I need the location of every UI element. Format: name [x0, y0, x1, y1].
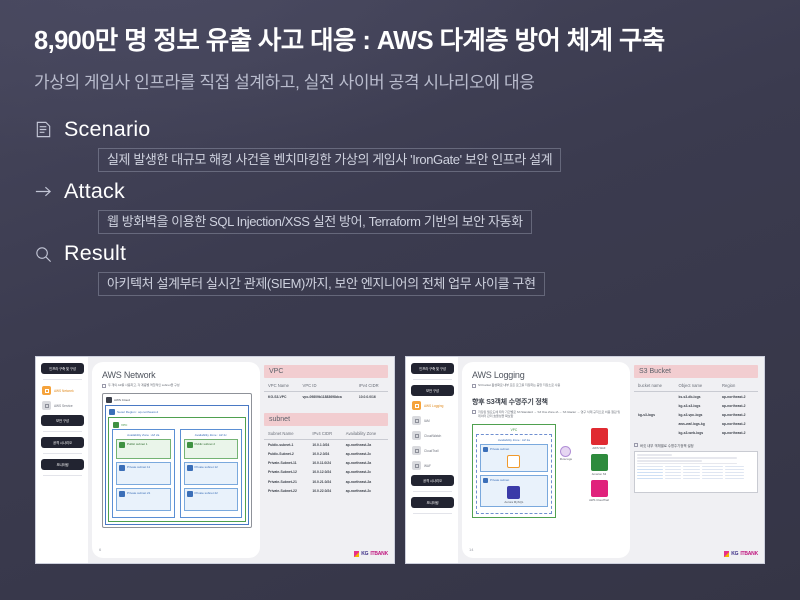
- logging-icon: [412, 401, 421, 410]
- cell: [634, 429, 674, 438]
- screenshot-caption: 버킷 내부 객체별로 수명주기정책 설정: [634, 443, 758, 448]
- cell: 10.0.1.0/24: [308, 440, 341, 450]
- kg-itbank-logo: KG ITBANK: [354, 551, 388, 557]
- slide1-canvas: AWS Network 두 개의 AZ를 사용하고, 각 계층별 역할적인 su…: [92, 362, 260, 558]
- table-row: Private-Subnet-11 10.0.11.0/24 ap-northe…: [264, 459, 388, 468]
- resource-icon: [507, 455, 520, 468]
- table-header-row: VPC Name VPC ID IPv4 CIDR: [264, 380, 388, 392]
- az-row: Availability Zone : AZ 2a Public subnet …: [112, 429, 242, 518]
- subnet-table-caption: subnet: [264, 413, 388, 426]
- subnet-label: Public subnet 2: [195, 442, 216, 446]
- slide2-nav-button-monitoring[interactable]: 모니터링: [411, 497, 454, 508]
- cell: ap-northeast-2: [718, 429, 758, 438]
- waf-icon: [412, 461, 421, 470]
- divider: [413, 491, 452, 492]
- slide1-note: 두 개의 AZ를 사용하고, 각 계층별 역할적인 subnet을 구성: [102, 383, 252, 388]
- private-subnet-1: Private subnet: [480, 444, 548, 472]
- flow-logs-icon: [560, 446, 571, 457]
- divider: [43, 453, 82, 454]
- az-title: Availability Zone : AZ 2c: [184, 433, 239, 437]
- bullet-icon: [102, 384, 106, 388]
- bullet-icon: [472, 384, 476, 388]
- screenshot-line: [637, 460, 702, 462]
- cell: Private-Subnet-21: [264, 477, 308, 486]
- column-header: bucket name: [634, 380, 674, 392]
- slide2-heading2: 향후 S3객체 수명주기 정책: [472, 397, 622, 407]
- slide1-data-panel: VPC VPC Name VPC ID IPv4 CIDR KG-S3-VPC …: [262, 357, 394, 563]
- service-icon: [42, 401, 51, 410]
- cloud-icon: [106, 397, 112, 403]
- vpc-text: VPC: [121, 423, 127, 427]
- screenshot-row: [637, 475, 755, 477]
- subnet-label: Private subnet: [490, 478, 509, 482]
- section-attack: Attack 웹 방화벽을 이용한 SQL Injection/XSS 실전 방…: [34, 181, 800, 234]
- slide2-nav-item-label: CloudWatch: [424, 434, 441, 438]
- az-label: Availability Zone : AZ 2a: [480, 438, 548, 442]
- section-scenario-header: Scenario: [34, 119, 800, 141]
- slide1-nav-item-aws-service[interactable]: AWS Service: [41, 400, 84, 411]
- s3-bucket-table-caption: S3 Bucket: [634, 365, 758, 378]
- amazon-s3-icon: [591, 454, 608, 471]
- table-row: Private-Subnet-21 10.0.21.0/24 ap-northe…: [264, 477, 388, 486]
- node-label: AWS WAF: [591, 446, 608, 450]
- cell: ks-s3-db-logs: [674, 392, 718, 402]
- logo-text-itbank: ITBANK: [370, 551, 388, 557]
- slide2-nav: 인프라 구축 및 구성 보안 구성 AWS Logging IAM CloudW…: [406, 357, 458, 563]
- divider: [43, 379, 82, 380]
- cell: vpc-09809b11883698dca: [299, 392, 355, 402]
- slide1-nav-button-attack[interactable]: 공격 시나리오: [41, 437, 84, 448]
- node-label: AWS CloudTrail: [589, 498, 609, 502]
- slide2-nav-item-label: CloudTrail: [424, 449, 438, 453]
- slide2-nav-item-label: WAF: [424, 464, 431, 468]
- cell: ap-northeast-2: [718, 392, 758, 402]
- section-result-desc: 아키텍처 설계부터 실시간 관제(SIEM)까지, 보안 엔지니어의 전체 업무…: [98, 272, 545, 297]
- slide2-note2: 저장된 필요도에 따라 기간별로 S3 Standard → S3 One Zo…: [472, 410, 622, 419]
- slide-page: 8,900만 명 정보 유출 사고 대응 : AWS 다계층 방어 체계 구축 …: [0, 0, 800, 600]
- cell: [634, 420, 674, 429]
- aws-cloud-box: AWS Cloud Seoul Region : ap-northeast-2: [102, 393, 252, 528]
- cell: ap-northeast-2: [718, 401, 758, 410]
- cell: ap-northeast-2a: [342, 440, 388, 450]
- page-title: 8,900만 명 정보 유출 사고 대응 : AWS 다계층 방어 체계 구축: [34, 26, 800, 56]
- table-row: kg-s3-s3-logs ap-northeast-2: [634, 401, 758, 410]
- subnet-public-2: Public subnet 2: [184, 439, 239, 459]
- subnet-icon: [119, 491, 125, 497]
- screenshot-line: [637, 454, 672, 456]
- logo-text-kg: KG: [361, 551, 368, 557]
- column-header: Object name: [674, 380, 718, 392]
- section-scenario-title: Scenario: [64, 119, 150, 141]
- table-header-row: bucket name Object name Region: [634, 380, 758, 392]
- slide2-body: AWS Logging S3 bucket 활성화로 내부 모든 로그를 저장하…: [458, 357, 764, 563]
- screenshot-row: [637, 478, 755, 480]
- subnet-private-11: Private subnet 11: [116, 462, 171, 485]
- page-header: 8,900만 명 정보 유출 사고 대응 : AWS 다계층 방어 체계 구축 …: [0, 0, 800, 93]
- table-row: Private-Subnet-12 10.0.12.0/24 ap-northe…: [264, 468, 388, 477]
- cell: aws-waf-logs-kg: [674, 420, 718, 429]
- cell: kg-s3-web-logs: [674, 429, 718, 438]
- slide2-heading: AWS Logging: [472, 370, 622, 380]
- slide2-nav-item-aws-logging[interactable]: AWS Logging: [411, 400, 454, 411]
- bullet-icon: [634, 443, 638, 447]
- table-row: aws-waf-logs-kg ap-northeast-2: [634, 420, 758, 429]
- slide1-heading: AWS Network: [102, 370, 252, 380]
- subnet-table: Subnet Name IPv4 CIDR Availability Zone …: [264, 428, 388, 495]
- subnet-icon: [119, 465, 125, 471]
- document-icon: [34, 120, 53, 139]
- node-aws-cloudtrail: AWS CloudTrail: [589, 480, 609, 502]
- cell: kg-s3-s3-logs: [674, 401, 718, 410]
- column-header: VPC Name: [264, 380, 299, 392]
- vpc-box: VPC Availability Zone : AZ 2a Public sub…: [108, 417, 246, 522]
- slide2-data-panel: S3 Bucket bucket name Object name Region…: [632, 357, 764, 563]
- vpc-box: VPC Availability Zone : AZ 2a Private su…: [472, 424, 556, 518]
- subnet-label: Private subnet 21: [127, 491, 150, 495]
- column-header: IPv4 CIDR: [355, 380, 388, 392]
- cell: Private-Subnet-12: [264, 468, 308, 477]
- slide2-nav-button-security[interactable]: 보안 구성: [411, 385, 454, 396]
- subnet-icon: [119, 442, 125, 448]
- slide1-note-text: 두 개의 AZ를 사용하고, 각 계층별 역할적인 subnet을 구성: [108, 383, 179, 388]
- section-attack-title: Attack: [64, 181, 125, 203]
- subnet-label: Private subnet: [490, 447, 509, 451]
- cell: ap-northeast-2: [718, 420, 758, 429]
- divider: [413, 379, 452, 380]
- vpc-table: VPC Name VPC ID IPv4 CIDR KG-S3-VPC vpc-…: [264, 380, 388, 401]
- subnet-icon: [187, 442, 193, 448]
- subnet-label: Public subnet 1: [127, 442, 148, 446]
- logo-text-kg: KG: [731, 551, 738, 557]
- column-header: Subnet Name: [264, 428, 308, 440]
- slide1-nav-top-button[interactable]: 인프라 구축 및 구성: [41, 363, 84, 374]
- cell: Public-Subnet-2: [264, 449, 308, 458]
- slide2-nav-button-attack[interactable]: 공격 시나리오: [411, 475, 454, 486]
- cell: kg-s3-logs: [634, 410, 674, 419]
- table-row: kg-s3-logs kg-s3-vpc-logs ap-northeast-2: [634, 410, 758, 419]
- logo-text-itbank: ITBANK: [740, 551, 758, 557]
- divider: [43, 431, 82, 432]
- logo-mark-icon: [354, 551, 359, 557]
- vpc-table-caption: VPC: [264, 365, 388, 378]
- slide1-nav-item-aws-network[interactable]: AWS Network: [41, 385, 84, 396]
- table-row: Private-Subnet-22 10.0.22.0/24 ap-northe…: [264, 486, 388, 495]
- cell: [634, 392, 674, 402]
- cell: KG-S3-VPC: [264, 392, 299, 402]
- table-row: Public-subnet-1 10.0.1.0/24 ap-northeast…: [264, 440, 388, 450]
- aws-cloud-label: AWS Cloud: [105, 396, 249, 404]
- region-box: Seoul Region : ap-northeast-2 VPC: [105, 405, 249, 525]
- screenshot-row: [637, 472, 755, 474]
- page-subtitle: 가상의 게임사 인프라를 직접 설계하고, 실전 사이버 공격 시나리오에 대응: [34, 68, 800, 93]
- cell: 10.0.22.0/24: [308, 486, 341, 495]
- subnet-private-22: Private subnet 22: [184, 488, 239, 511]
- subnet-label: Private subnet 12: [195, 465, 218, 469]
- column-header: VPC ID: [299, 380, 355, 392]
- slide2-note-text: S3 bucket 활성화로 내부 모든 로그를 저장하는 중앙 저장소로 사용: [478, 383, 560, 388]
- subnet-label: Private subnet 11: [127, 465, 150, 469]
- section-scenario: Scenario 실제 발생한 대규모 해킹 사건을 벤치마킹한 가상의 게임사…: [34, 119, 800, 172]
- flow-logs-label: Flow logs: [560, 457, 572, 461]
- availability-zone-2c: Availability Zone : AZ 2c Public subnet …: [180, 429, 243, 518]
- aurora-mysql-icon: [507, 486, 520, 499]
- s3-bucket-table: bucket name Object name Region ks-s3-db-…: [634, 380, 758, 438]
- table-row: kg-s3-web-logs ap-northeast-2: [634, 429, 758, 438]
- slide2-note2-text: 저장된 필요도에 따라 기간별로 S3 Standard → S3 One Zo…: [478, 410, 622, 419]
- subnet-private-21: Private subnet 21: [116, 488, 171, 511]
- cell: 10.0.12.0/24: [308, 468, 341, 477]
- cell: ap-northeast-2c: [342, 468, 388, 477]
- aws-waf-icon: [591, 428, 608, 445]
- cell: Private-Subnet-22: [264, 486, 308, 495]
- slide-thumbnail-logging[interactable]: 인프라 구축 및 구성 보안 구성 AWS Logging IAM CloudW…: [405, 356, 765, 564]
- cell: kg-s3-vpc-logs: [674, 410, 718, 419]
- slide2-nav-item-waf[interactable]: WAF: [411, 460, 454, 471]
- region-text: Seoul Region : ap-northeast-2: [117, 410, 158, 414]
- aurora-mysql-label: Aurora MySQL: [483, 500, 545, 504]
- slide2-nav-item-label: AWS Logging: [424, 404, 443, 408]
- screenshot-caption-text: 버킷 내부 객체별로 수명주기정책 설정: [640, 443, 694, 448]
- slide-thumbnail-list: 인프라 구축 및 구성 AWS Network AWS Service 보안 구…: [35, 356, 765, 564]
- slide2-nav-item-cloudtrail[interactable]: CloudTrail: [411, 445, 454, 456]
- cell: 10.0.21.0/24: [308, 477, 341, 486]
- vpc-label: VPC: [476, 428, 552, 432]
- iam-icon: [412, 416, 421, 425]
- slide1-nav-item-label: AWS Network: [54, 389, 74, 393]
- section-result-title: Result: [64, 243, 126, 265]
- column-header: Availability Zone: [342, 428, 388, 440]
- slide1-body: AWS Network 두 개의 AZ를 사용하고, 각 계층별 역할적인 su…: [88, 357, 394, 563]
- screenshot-row: [637, 466, 755, 468]
- cloudtrail-icon: [412, 446, 421, 455]
- vpc-label: VPC: [112, 421, 242, 429]
- section-attack-desc: 웹 방화벽을 이용한 SQL Injection/XSS 실전 방어, Terr…: [98, 210, 532, 235]
- slide1-nav-item-label: AWS Service: [54, 404, 73, 408]
- subnet-icon: [187, 465, 193, 471]
- slide2-page-number: 14: [469, 547, 473, 552]
- node-aws-waf: AWS WAF: [591, 428, 608, 450]
- divider: [43, 475, 82, 476]
- cell: 10.0.0.0/16: [355, 392, 388, 402]
- private-subnet-2: Private subnet Aurora MySQL: [480, 475, 548, 507]
- slide2-canvas: AWS Logging S3 bucket 활성화로 내부 모든 로그를 저장하…: [462, 362, 630, 558]
- subnet-header: Private subnet: [483, 478, 545, 483]
- aws-cloud-text: AWS Cloud: [114, 398, 130, 402]
- screenshot-line: [637, 457, 737, 459]
- bullet-icon: [472, 410, 476, 414]
- subnet-label: Private subnet 22: [195, 491, 218, 495]
- subnet-icon: [483, 478, 488, 483]
- column-header: IPv4 CIDR: [308, 428, 341, 440]
- table-row: KG-S3-VPC vpc-09809b11883698dca 10.0.0.0…: [264, 392, 388, 402]
- cell: ap-northeast-2c: [342, 486, 388, 495]
- console-screenshot: [634, 451, 758, 493]
- logging-diagram: VPC Availability Zone : AZ 2a Private su…: [472, 424, 622, 518]
- slide-thumbnail-network[interactable]: 인프라 구축 및 구성 AWS Network AWS Service 보안 구…: [35, 356, 395, 564]
- screenshot-row: [637, 469, 755, 471]
- slide2-nav-item-label: IAM: [424, 419, 430, 423]
- kg-itbank-logo: KG ITBANK: [724, 551, 758, 557]
- section-result-header: Result: [34, 243, 800, 265]
- column-header: Region: [718, 380, 758, 392]
- cloudwatch-icon: [412, 431, 421, 440]
- cell: Public-subnet-1: [264, 440, 308, 450]
- subnet-header: Private subnet: [483, 447, 545, 452]
- cell: [634, 401, 674, 410]
- slide1-page-number: 6: [99, 547, 101, 552]
- divider: [413, 513, 452, 514]
- availability-zone-box: Availability Zone : AZ 2a Private subnet: [476, 434, 552, 514]
- slide1-nav-button-security[interactable]: 보안 구성: [41, 415, 84, 426]
- service-node-list: AWS WAF Amazon S3 AWS CloudTrail: [576, 424, 622, 502]
- flow-logs-node: Flow logs: [560, 424, 572, 461]
- subnet-icon: [187, 491, 193, 497]
- cell: ap-northeast-2c: [342, 449, 388, 458]
- cell: ap-northeast-2: [718, 410, 758, 419]
- cell: ap-northeast-2a: [342, 459, 388, 468]
- cell: 10.0.2.0/24: [308, 449, 341, 458]
- availability-zone-2a: Availability Zone : AZ 2a Public subnet …: [112, 429, 175, 518]
- section-list: Scenario 실제 발생한 대규모 해킹 사건을 벤치마킹한 가상의 게임사…: [0, 119, 800, 296]
- region-icon: [109, 409, 115, 415]
- cell: 10.0.11.0/24: [308, 459, 341, 468]
- logo-mark-icon: [724, 551, 729, 557]
- section-result: Result 아키텍처 설계부터 실시간 관제(SIEM)까지, 보안 엔지니어…: [34, 243, 800, 296]
- slide2-note: S3 bucket 활성화로 내부 모든 로그를 저장하는 중앙 저장소로 사용: [472, 383, 622, 388]
- aws-cloudtrail-icon: [591, 480, 608, 497]
- slide2-nav-item-cloudwatch[interactable]: CloudWatch: [411, 430, 454, 441]
- node-amazon-s3: Amazon S3: [591, 454, 608, 476]
- subnet-icon: [483, 447, 488, 452]
- node-label: Amazon S3: [591, 472, 608, 476]
- table-row: ks-s3-db-logs ap-northeast-2: [634, 392, 758, 402]
- screenshot-line: [637, 463, 737, 465]
- slide1-nav: 인프라 구축 및 구성 AWS Network AWS Service 보안 구…: [36, 357, 88, 563]
- network-icon: [42, 386, 51, 395]
- section-attack-header: Attack: [34, 181, 800, 203]
- section-scenario-desc: 실제 발생한 대규모 해킹 사건을 벤치마킹한 가상의 게임사 'IronGat…: [98, 148, 561, 173]
- region-label: Seoul Region : ap-northeast-2: [108, 408, 246, 416]
- subnet-private-12: Private subnet 12: [184, 462, 239, 485]
- slide2-nav-top-button[interactable]: 인프라 구축 및 구성: [411, 363, 454, 374]
- cell: Private-Subnet-11: [264, 459, 308, 468]
- search-icon: [34, 245, 53, 264]
- table-header-row: Subnet Name IPv4 CIDR Availability Zone: [264, 428, 388, 440]
- slide2-nav-item-iam[interactable]: IAM: [411, 415, 454, 426]
- subnet-public-1: Public subnet 1: [116, 439, 171, 459]
- table-row: Public-Subnet-2 10.0.2.0/24 ap-northeast…: [264, 449, 388, 458]
- arrow-right-icon: [34, 182, 53, 201]
- cell: ap-northeast-2a: [342, 477, 388, 486]
- az-title: Availability Zone : AZ 2a: [116, 433, 171, 437]
- vpc-icon: [113, 422, 119, 428]
- slide1-nav-button-monitoring[interactable]: 모니터링: [41, 459, 84, 470]
